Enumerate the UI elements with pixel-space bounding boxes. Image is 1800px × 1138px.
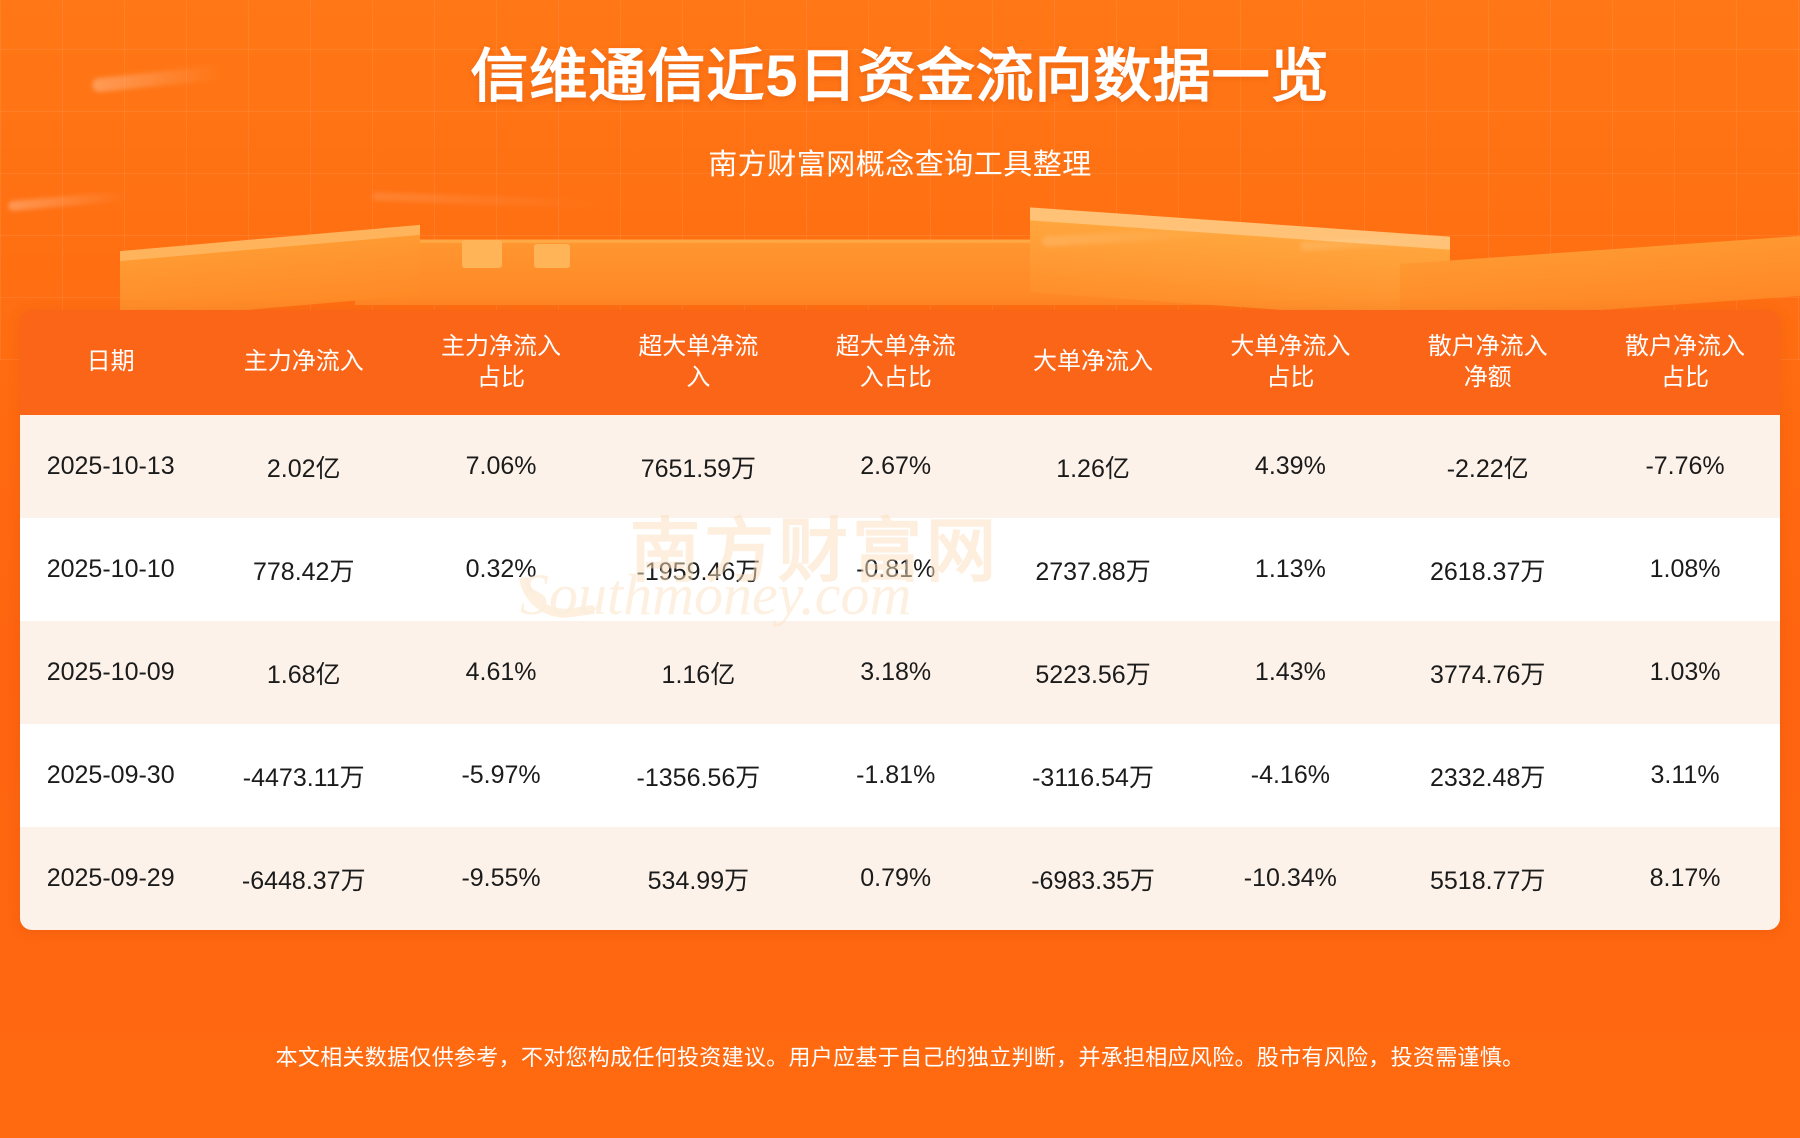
cell-main-net: 2.02亿 <box>201 415 406 518</box>
header-line-2: 入 <box>686 364 710 391</box>
header-line-1: 超大单净流 <box>836 333 956 360</box>
header-line-2: 占比 <box>477 364 525 391</box>
cell-date: 2025-09-30 <box>20 724 201 827</box>
cell-main-pct: -5.97% <box>406 724 596 827</box>
cell-super-net: 534.99万 <box>596 827 801 930</box>
column-header-main-pct[interactable]: 主力净流入 占比 <box>406 310 596 415</box>
podium-block-a-icon <box>462 240 502 268</box>
cell-date: 2025-10-09 <box>20 621 201 724</box>
fund-flow-table-card: 日期 主力净流入 主力净流入 占比 超大单净流 入 超大单净流 <box>20 310 1780 930</box>
cell-retail-pct: 1.03% <box>1590 621 1780 724</box>
table-row: 2025-10-13 2.02亿 7.06% 7651.59万 2.67% 1.… <box>20 415 1780 518</box>
cell-super-pct: 2.67% <box>801 415 991 518</box>
podium-right-icon <box>1030 220 1450 321</box>
cell-big-net: -3116.54万 <box>991 724 1196 827</box>
table-header-row: 日期 主力净流入 主力净流入 占比 超大单净流 入 超大单净流 <box>20 310 1780 415</box>
cell-main-net: 1.68亿 <box>201 621 406 724</box>
cell-main-pct: 7.06% <box>406 415 596 518</box>
cell-big-net: 2737.88万 <box>991 518 1196 621</box>
cell-retail-pct: -7.76% <box>1590 415 1780 518</box>
header-line-1: 日期 <box>87 348 135 375</box>
podium-block-b-icon <box>534 244 570 268</box>
cell-retail-net: 2618.37万 <box>1385 518 1590 621</box>
podium-left-icon <box>120 235 420 321</box>
column-header-retail-pct[interactable]: 散户净流入 占比 <box>1590 310 1780 415</box>
cell-big-pct: 1.43% <box>1195 621 1385 724</box>
table-row: 2025-10-10 778.42万 0.32% -1959.46万 -0.81… <box>20 518 1780 621</box>
cell-date: 2025-10-13 <box>20 415 201 518</box>
cell-big-net: -6983.35万 <box>991 827 1196 930</box>
column-header-main-net[interactable]: 主力净流入 <box>201 310 406 415</box>
light-streak-icon <box>372 192 612 209</box>
header-line-2: 占比 <box>1266 364 1314 391</box>
light-streak-icon <box>1042 227 1222 246</box>
cell-retail-pct: 8.17% <box>1590 827 1780 930</box>
disclaimer-text: 本文相关数据仅供参考，不对您构成任何投资建议。用户应基于自己的独立判断，并承担相… <box>0 1040 1800 1072</box>
cell-date: 2025-10-10 <box>20 518 201 621</box>
cell-retail-net: 3774.76万 <box>1385 621 1590 724</box>
column-header-big-net[interactable]: 大单净流入 <box>991 310 1196 415</box>
cell-super-pct: 3.18% <box>801 621 991 724</box>
cell-retail-net: -2.22亿 <box>1385 415 1590 518</box>
page-subtitle: 南方财富网概念查询工具整理 <box>0 141 1800 183</box>
cell-super-net: -1356.56万 <box>596 724 801 827</box>
cell-big-pct: 4.39% <box>1195 415 1385 518</box>
cell-super-pct: -1.81% <box>801 724 991 827</box>
page-root: 信维通信近5日资金流向数据一览 南方财富网概念查询工具整理 日期 主力净流入 <box>0 0 1800 1138</box>
cell-big-pct: -10.34% <box>1195 827 1385 930</box>
column-header-big-pct[interactable]: 大单净流入 占比 <box>1195 310 1385 415</box>
header-line-1: 主力净流入 <box>441 333 561 360</box>
cell-super-pct: 0.79% <box>801 827 991 930</box>
header-line-1: 主力净流入 <box>244 348 364 375</box>
cell-main-net: -6448.37万 <box>201 827 406 930</box>
column-header-super-pct[interactable]: 超大单净流 入占比 <box>801 310 991 415</box>
header-line-1: 大单净流入 <box>1033 348 1153 375</box>
header-line-2: 入占比 <box>860 364 932 391</box>
podium-left-top-icon <box>120 225 420 273</box>
light-streak-icon <box>1300 234 1450 251</box>
header-line-1: 散户净流入 <box>1625 333 1745 360</box>
table-header: 日期 主力净流入 主力净流入 占比 超大单净流 入 超大单净流 <box>20 310 1780 415</box>
header-line-2: 净额 <box>1464 364 1512 391</box>
cell-main-pct: 0.32% <box>406 518 596 621</box>
header-line-2: 占比 <box>1661 364 1709 391</box>
cell-super-pct: -0.81% <box>801 518 991 621</box>
cell-big-net: 5223.56万 <box>991 621 1196 724</box>
cell-main-net: -4473.11万 <box>201 724 406 827</box>
cell-date: 2025-09-29 <box>20 827 201 930</box>
cell-main-net: 778.42万 <box>201 518 406 621</box>
table-body: 2025-10-13 2.02亿 7.06% 7651.59万 2.67% 1.… <box>20 415 1780 930</box>
podium-top-icon <box>330 239 1470 296</box>
header-line-1: 散户净流入 <box>1428 333 1548 360</box>
column-header-retail-net[interactable]: 散户净流入 净额 <box>1385 310 1590 415</box>
podium-right-top-icon <box>1030 207 1450 260</box>
column-header-date[interactable]: 日期 <box>20 310 201 415</box>
cell-retail-pct: 3.11% <box>1590 724 1780 827</box>
cell-retail-net: 5518.77万 <box>1385 827 1590 930</box>
cell-main-pct: 4.61% <box>406 621 596 724</box>
cell-big-pct: -4.16% <box>1195 724 1385 827</box>
cell-retail-pct: 1.08% <box>1590 518 1780 621</box>
table-row: 2025-09-29 -6448.37万 -9.55% 534.99万 0.79… <box>20 827 1780 930</box>
page-title: 信维通信近5日资金流向数据一览 <box>0 44 1800 111</box>
table-row: 2025-10-09 1.68亿 4.61% 1.16亿 3.18% 5223.… <box>20 621 1780 724</box>
cell-main-pct: -9.55% <box>406 827 596 930</box>
cell-big-net: 1.26亿 <box>991 415 1196 518</box>
column-header-super-net[interactable]: 超大单净流 入 <box>596 310 801 415</box>
cell-super-net: 7651.59万 <box>596 415 801 518</box>
cell-big-pct: 1.13% <box>1195 518 1385 621</box>
hero-section: 信维通信近5日资金流向数据一览 南方财富网概念查询工具整理 <box>0 0 1800 183</box>
cell-super-net: 1.16亿 <box>596 621 801 724</box>
header-line-1: 大单净流入 <box>1230 333 1350 360</box>
fund-flow-table: 日期 主力净流入 主力净流入 占比 超大单净流 入 超大单净流 <box>20 310 1780 930</box>
podium-front-icon <box>355 243 1445 305</box>
header-line-1: 超大单净流 <box>638 333 758 360</box>
cell-retail-net: 2332.48万 <box>1385 724 1590 827</box>
table-row: 2025-09-30 -4473.11万 -5.97% -1356.56万 -1… <box>20 724 1780 827</box>
cell-super-net: -1959.46万 <box>596 518 801 621</box>
light-streak-icon <box>8 191 128 211</box>
